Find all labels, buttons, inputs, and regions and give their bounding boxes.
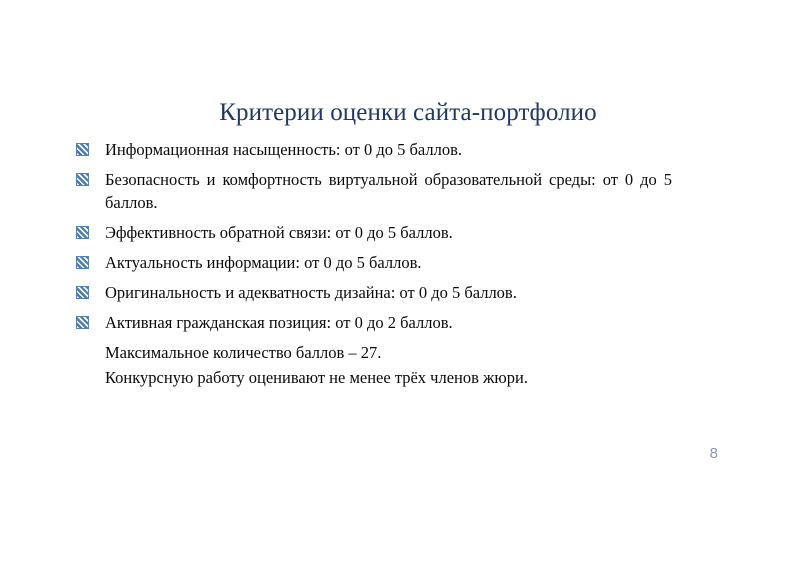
hatched-square-bullet-icon (76, 226, 89, 239)
list-item-label: Оригинальность и адекватность дизайна: о… (105, 281, 672, 304)
hatched-square-bullet-icon (76, 173, 89, 186)
summary-paragraphs: Максимальное количество баллов – 27. Кон… (105, 340, 675, 390)
page-title: Критерии оценки сайта-портфолио (60, 98, 756, 128)
list-item: Безопасность и комфортность виртуальной … (76, 168, 672, 214)
list-item-label: Эффективность обратной связи: от 0 до 5 … (105, 221, 672, 244)
list-item-label: Безопасность и комфортность виртуальной … (105, 168, 672, 214)
criteria-bullet-list: Информационная насыщенность: от 0 до 5 б… (76, 138, 672, 341)
list-item-label: Актуальность информации: от 0 до 5 балло… (105, 251, 672, 274)
list-item: Оригинальность и адекватность дизайна: о… (76, 281, 672, 304)
list-item: Информационная насыщенность: от 0 до 5 б… (76, 138, 672, 161)
hatched-square-bullet-icon (76, 316, 89, 329)
max-score-text: Максимальное количество баллов – 27. (105, 340, 675, 365)
list-item: Актуальность информации: от 0 до 5 балло… (76, 251, 672, 274)
list-item: Активная гражданская позиция: от 0 до 2 … (76, 311, 672, 334)
list-item-label: Информационная насыщенность: от 0 до 5 б… (105, 138, 672, 161)
hatched-square-bullet-icon (76, 143, 89, 156)
jury-note-text: Конкурсную работу оценивают не менее трё… (105, 365, 675, 390)
hatched-square-bullet-icon (76, 256, 89, 269)
list-item-label: Активная гражданская позиция: от 0 до 2 … (105, 311, 672, 334)
slide-canvas: Критерии оценки сайта-портфолио Информац… (0, 0, 800, 566)
page-number: 8 (710, 445, 718, 463)
hatched-square-bullet-icon (76, 286, 89, 299)
list-item: Эффективность обратной связи: от 0 до 5 … (76, 221, 672, 244)
